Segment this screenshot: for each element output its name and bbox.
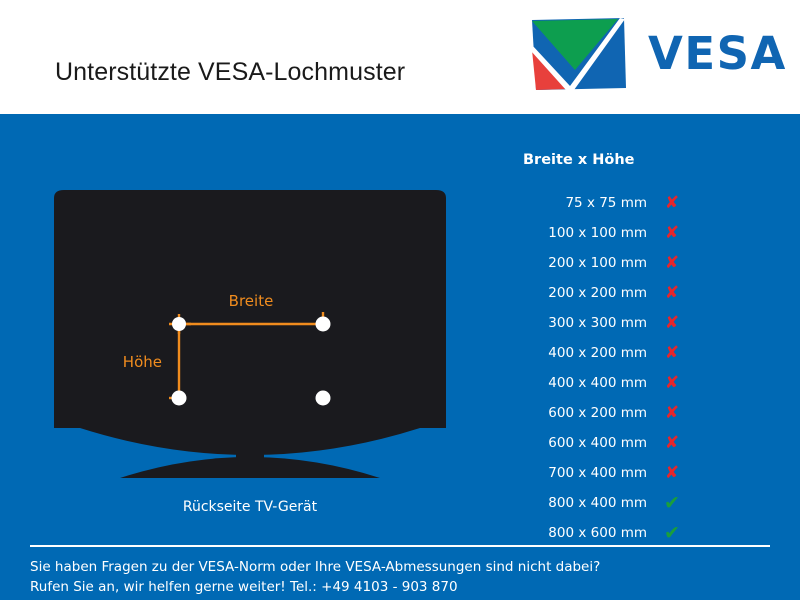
supported-check-icon: ✔	[647, 494, 697, 513]
footer-line-2: Rufen Sie an, wir helfen gerne weiter! T…	[30, 577, 775, 597]
mount-hole-top-left	[172, 317, 186, 331]
vesa-logo: VESA	[530, 18, 788, 90]
unsupported-cross-icon: ✘	[647, 225, 697, 242]
footer-divider	[30, 545, 770, 547]
table-row: 300 x 300 mm✘	[505, 308, 705, 338]
tv-body-shape	[54, 190, 446, 455]
mount-hole-top-right	[316, 317, 331, 332]
vesa-pattern-table: Breite x Höhe 75 x 75 mm✘100 x 100 mm✘20…	[505, 152, 705, 548]
footer-line-1: Sie haben Fragen zu der VESA-Norm oder I…	[30, 557, 775, 577]
tv-stand-base	[120, 457, 380, 478]
tv-back-diagram: Breite Höhe	[40, 190, 460, 480]
unsupported-cross-icon: ✘	[647, 345, 697, 362]
table-row: 200 x 100 mm✘	[505, 248, 705, 278]
unsupported-cross-icon: ✘	[647, 195, 697, 212]
unsupported-cross-icon: ✘	[647, 375, 697, 392]
pattern-size-label: 800 x 400 mm	[505, 495, 647, 511]
table-header-breite-x-hoehe: Breite x Höhe	[505, 152, 705, 168]
unsupported-cross-icon: ✘	[647, 435, 697, 452]
supported-check-icon: ✔	[647, 524, 697, 543]
table-row: 400 x 200 mm✘	[505, 338, 705, 368]
tv-diagram-caption: Rückseite TV-Gerät	[40, 499, 460, 515]
pattern-size-label: 700 x 400 mm	[505, 465, 647, 481]
height-label: Höhe	[123, 353, 162, 371]
unsupported-cross-icon: ✘	[647, 465, 697, 482]
pattern-size-label: 800 x 600 mm	[505, 525, 647, 541]
mount-hole-bottom-left	[172, 391, 187, 406]
pattern-size-label: 100 x 100 mm	[505, 225, 647, 241]
pattern-size-label: 200 x 200 mm	[505, 285, 647, 301]
table-row: 100 x 100 mm✘	[505, 218, 705, 248]
vesa-wordmark: VESA	[648, 30, 787, 78]
pattern-size-label: 75 x 75 mm	[505, 195, 647, 211]
pattern-size-label: 400 x 200 mm	[505, 345, 647, 361]
table-row: 75 x 75 mm✘	[505, 188, 705, 218]
table-row: 800 x 600 mm✔	[505, 518, 705, 548]
pattern-size-label: 600 x 400 mm	[505, 435, 647, 451]
unsupported-cross-icon: ✘	[647, 315, 697, 332]
table-row: 700 x 400 mm✘	[505, 458, 705, 488]
vesa-mounting-pattern-page: Unterstützte VESA-Lochmuster VESA	[0, 0, 800, 600]
table-row: 400 x 400 mm✘	[505, 368, 705, 398]
pattern-size-label: 400 x 400 mm	[505, 375, 647, 391]
pattern-size-label: 600 x 200 mm	[505, 405, 647, 421]
pattern-size-label: 300 x 300 mm	[505, 315, 647, 331]
pattern-size-label: 200 x 100 mm	[505, 255, 647, 271]
footer-contact-text: Sie haben Fragen zu der VESA-Norm oder I…	[30, 557, 775, 597]
unsupported-cross-icon: ✘	[647, 405, 697, 422]
mount-hole-bottom-right	[316, 391, 331, 406]
table-row: 800 x 400 mm✔	[505, 488, 705, 518]
content-panel: Breite Höhe Rückseite TV-Gerät Breite x …	[0, 114, 800, 600]
unsupported-cross-icon: ✘	[647, 285, 697, 302]
table-row: 600 x 400 mm✘	[505, 428, 705, 458]
vesa-logo-mark	[530, 18, 626, 90]
width-label: Breite	[229, 292, 274, 310]
table-body: 75 x 75 mm✘100 x 100 mm✘200 x 100 mm✘200…	[505, 188, 705, 548]
page-title: Unterstützte VESA-Lochmuster	[55, 58, 405, 87]
tv-stand-neck	[236, 426, 264, 458]
table-row: 600 x 200 mm✘	[505, 398, 705, 428]
table-row: 200 x 200 mm✘	[505, 278, 705, 308]
unsupported-cross-icon: ✘	[647, 255, 697, 272]
page-header: Unterstützte VESA-Lochmuster VESA	[0, 0, 800, 114]
